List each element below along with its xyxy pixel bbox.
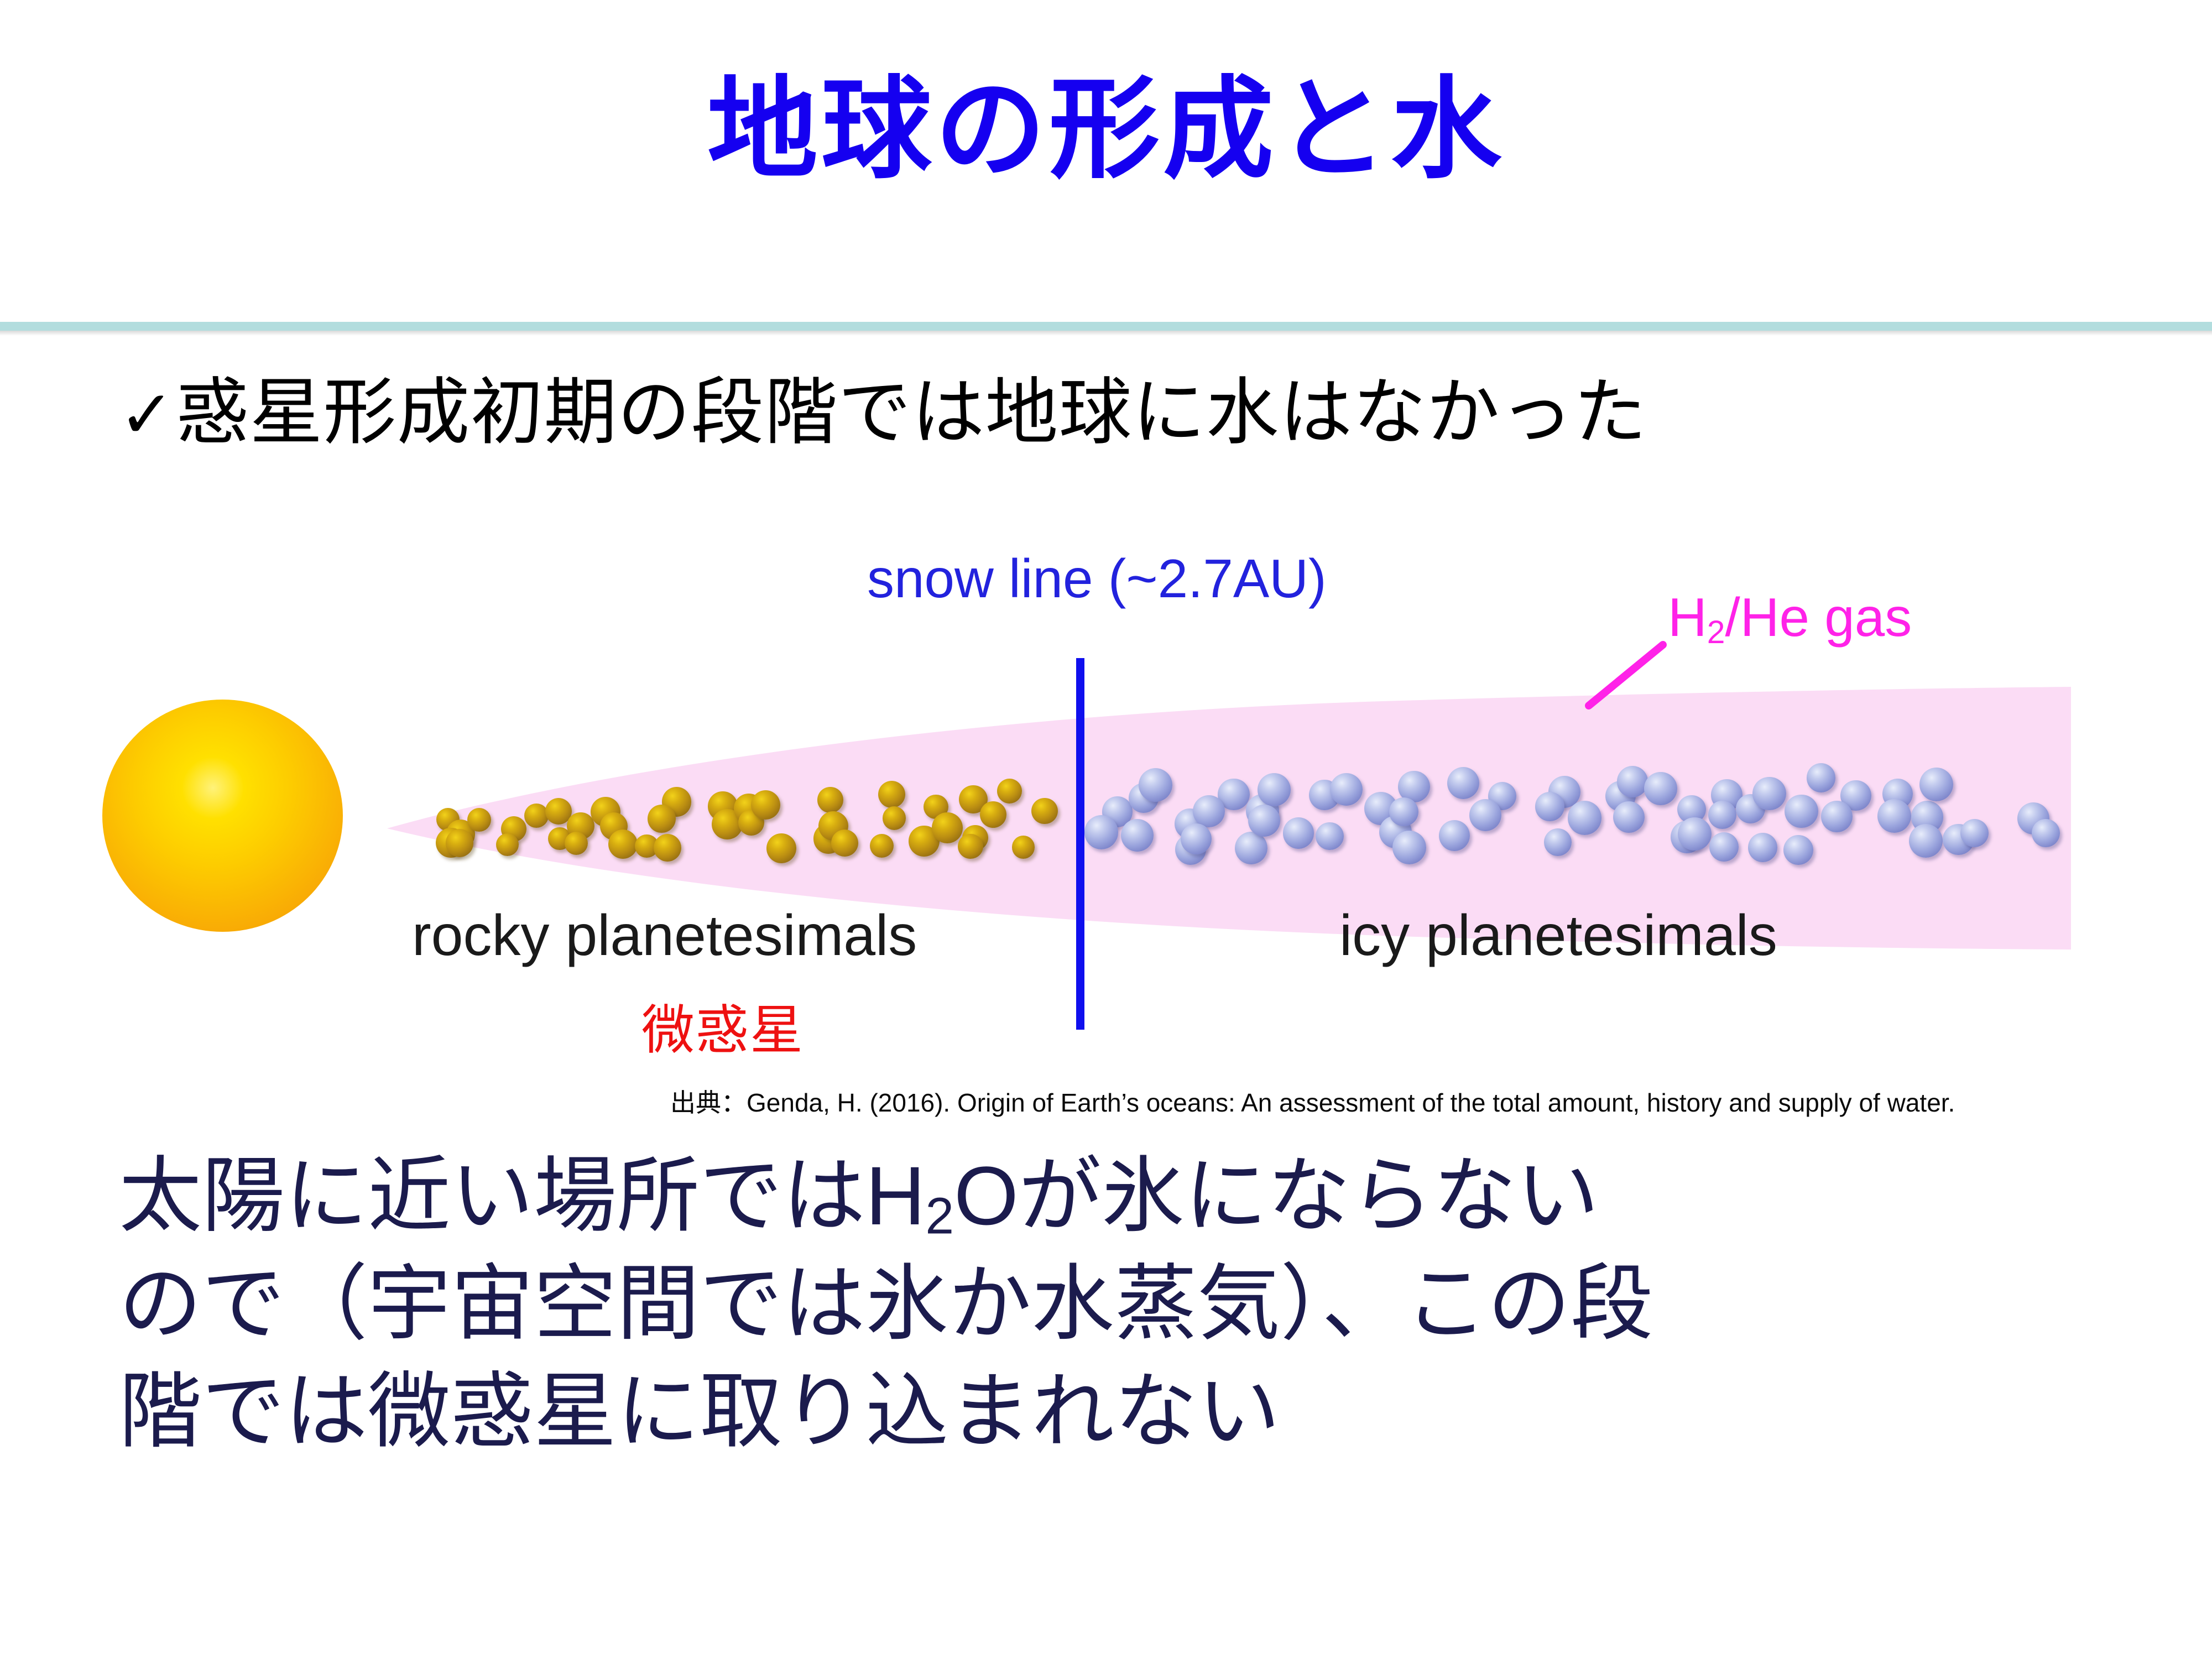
bullet-line: ✓惑星形成初期の段階では地球に水はなかった (119, 372, 2110, 453)
icy-planetesimal (1617, 766, 1648, 797)
icy-planetesimal (1919, 768, 1954, 802)
source-citation: 出典：Genda, H. (2016). Origin of Earth’s o… (670, 1083, 1955, 1119)
icy-planetesimal (1909, 824, 1943, 858)
sun-icon (102, 700, 343, 932)
body-line-1: 太陽に近い場所ではH2Oが氷にならない (119, 1142, 2132, 1250)
rocky-planetesimal (878, 781, 906, 808)
body-line-3: 階では微惑星に取り込まれない (119, 1358, 2132, 1465)
rocky-planetesimal (817, 787, 843, 813)
icy-planetesimal (1960, 819, 1989, 847)
icy-planetesimal (1139, 768, 1172, 802)
icy-planetesimal (1283, 817, 1314, 849)
icy-planetesimals-label: icy planetesimals (1339, 903, 1777, 969)
icy-planetesimal (1748, 833, 1777, 862)
icy-planetesimal (1389, 797, 1418, 827)
rocky-planetesimal (1012, 836, 1035, 859)
rocky-planetesimal (608, 830, 638, 859)
icy-planetesimal (1084, 815, 1119, 849)
icy-planetesimal (1708, 801, 1736, 829)
icy-planetesimal (1248, 805, 1280, 837)
snow-line-marker (1076, 658, 1084, 1030)
icy-planetesimal (1439, 820, 1470, 851)
icy-planetesimal (1783, 835, 1813, 865)
icy-planetesimal (1568, 801, 1602, 835)
rocky-planetesimal (958, 834, 983, 859)
rocky-planetesimal (751, 790, 780, 820)
icy-planetesimal (1235, 832, 1267, 864)
rocky-planetesimal (565, 832, 588, 855)
gas-label-main: H (1668, 587, 1707, 648)
snow-line-label: snow line (~2.7AU) (867, 547, 1327, 610)
icy-planetesimal (1807, 763, 1835, 792)
page-title: 地球の形成と水 (0, 72, 2212, 188)
icy-planetesimal (1316, 822, 1344, 851)
rocky-planetesimal (997, 779, 1022, 804)
icy-planetesimal (1785, 795, 1818, 828)
rocky-planetesimal (980, 801, 1006, 828)
icy-planetesimal (1258, 773, 1291, 806)
title-divider (0, 322, 2212, 331)
icy-planetesimal (1121, 819, 1154, 852)
rocky-planetesimal (648, 805, 675, 832)
rocky-planetesimal (654, 834, 681, 862)
icy-planetesimal (1193, 795, 1225, 827)
icy-planetesimal (1644, 772, 1677, 805)
rocky-planetesimal (524, 804, 549, 828)
icy-planetesimal (1447, 767, 1480, 800)
icy-planetesimal (1678, 817, 1711, 851)
icy-planetesimal (1709, 832, 1739, 862)
icy-planetesimal (1752, 777, 1786, 811)
formula-h2o-sub: 2 (925, 1187, 954, 1245)
rocky-planetesimal (831, 830, 858, 857)
gas-label-tail: /He gas (1725, 587, 1912, 648)
icy-planetesimal (1613, 801, 1645, 833)
rocky-planetesimal (467, 808, 491, 832)
icy-planetesimal (1821, 801, 1853, 832)
check-icon: ✓ (119, 378, 175, 452)
body-line-1-b: が氷にならない (1019, 1149, 1599, 1242)
rocky-planetesimal (496, 833, 519, 856)
icy-planetesimal (1877, 799, 1911, 833)
title-divider-shadow (0, 331, 2212, 336)
rocky-planetesimal (883, 806, 906, 830)
rocky-planetesimals-label: rocky planetesimals (412, 903, 917, 969)
gas-leader-line (1584, 640, 1667, 709)
slide-canvas: 地球の形成と水 ✓惑星形成初期の段階では地球に水はなかった snow line … (0, 0, 2212, 1659)
rocky-planetesimal (766, 833, 796, 863)
icy-planetesimal (1392, 831, 1426, 864)
rocky-planetesimal (446, 829, 473, 857)
rocky-planetesimal (932, 812, 962, 843)
icy-planetesimal (1535, 792, 1564, 821)
icy-planetesimal (1181, 823, 1212, 854)
rocky-planetesimal (870, 834, 894, 858)
planetesimal-label-jp: 微惑星 (641, 987, 804, 1064)
body-text-block: 太陽に近い場所ではH2Oが氷にならない ので（宇宙空間では氷か水蒸気）、この段 … (119, 1142, 2132, 1465)
gas-label: H2/He gas (1668, 586, 1912, 651)
formula-h2o-tail: O (954, 1149, 1019, 1242)
icy-planetesimal (1330, 773, 1363, 806)
icy-planetesimal (2032, 819, 2060, 847)
body-line-2: ので（宇宙空間では氷か水蒸気）、この段 (119, 1250, 2132, 1358)
bullet-text: 惑星形成初期の段階では地球に水はなかった (176, 372, 1647, 453)
body-line-1-a: 太陽に近い場所では (119, 1149, 865, 1242)
formula-h2o-main: H (865, 1149, 925, 1242)
rocky-planetesimal (1031, 798, 1057, 824)
gas-label-sub: 2 (1707, 614, 1725, 650)
icy-planetesimal (1544, 828, 1572, 856)
icy-planetesimal (1469, 799, 1502, 832)
